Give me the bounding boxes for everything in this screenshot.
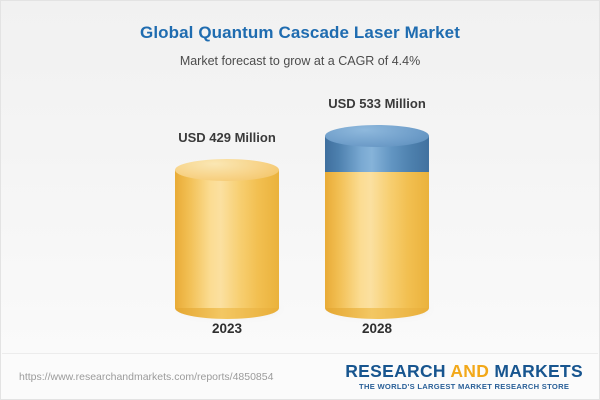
footer: https://www.researchandmarkets.com/repor… [1, 354, 599, 399]
logo-word-markets: MARKETS [494, 361, 583, 381]
infographic-canvas: Global Quantum Cascade Laser Market Mark… [0, 0, 600, 400]
logo-tagline: THE WORLD'S LARGEST MARKET RESEARCH STOR… [345, 382, 583, 391]
bar-top-ellipse-2023 [175, 159, 279, 181]
logo-wordmark: RESEARCH AND MARKETS [345, 362, 583, 380]
bar-value-label-2023: USD 429 Million [135, 130, 319, 145]
research-and-markets-logo[interactable]: RESEARCH AND MARKETS THE WORLD'S LARGEST… [345, 362, 583, 391]
logo-word-and: AND [450, 361, 489, 381]
bar-body-yellow-2028 [325, 161, 429, 308]
bar-chart: USD 429 Million 2023 USD 533 Million 202… [1, 1, 600, 353]
bar-body-2023 [175, 170, 279, 308]
bar-top-ellipse-2028 [325, 125, 429, 147]
report-url[interactable]: https://www.researchandmarkets.com/repor… [19, 371, 273, 383]
logo-word-research: RESEARCH [345, 361, 446, 381]
bar-value-label-2028: USD 533 Million [285, 96, 469, 111]
bar-year-label-2028: 2028 [285, 321, 469, 336]
